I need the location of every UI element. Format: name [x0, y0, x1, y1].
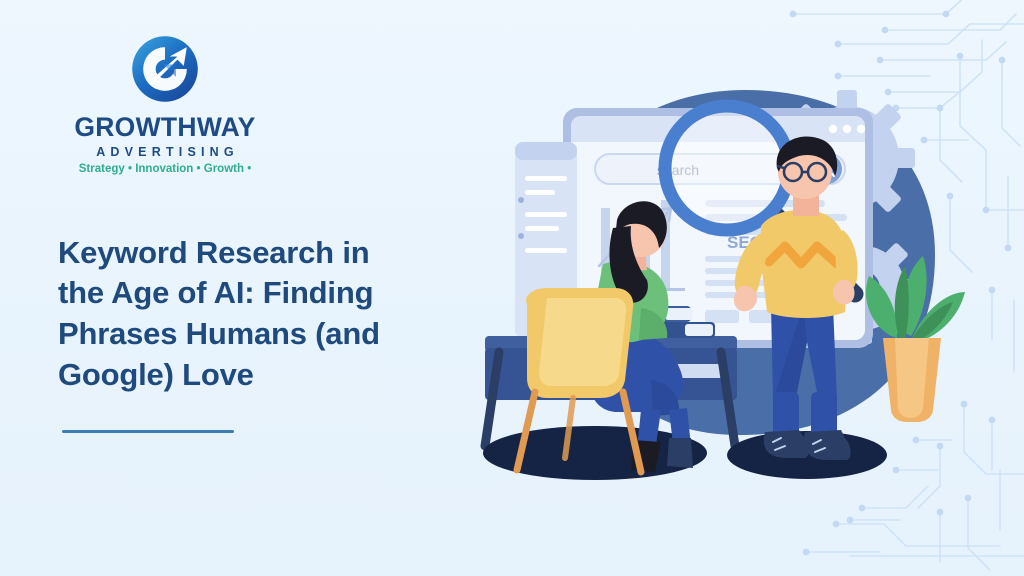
hero-banner: GROWTHWAY ADVERTISING Strategy • Innovat… [0, 0, 1024, 576]
page-title: Keyword Research in the Age of AI: Findi… [58, 233, 418, 397]
brand-logo[interactable]: GROWTHWAY ADVERTISING Strategy • Innovat… [70, 30, 260, 176]
growth-arrow-circle-logo-icon [126, 30, 204, 108]
hero-text-column: GROWTHWAY ADVERTISING Strategy • Innovat… [58, 30, 458, 433]
brand-name: GROWTHWAY [70, 114, 260, 141]
brand-subtitle: ADVERTISING [70, 146, 260, 159]
title-divider [62, 430, 234, 433]
window-dots [829, 125, 865, 133]
brand-tagline: Strategy • Innovation • Growth • [70, 164, 260, 176]
seo-keyword-research-illustration: search [455, 80, 975, 500]
